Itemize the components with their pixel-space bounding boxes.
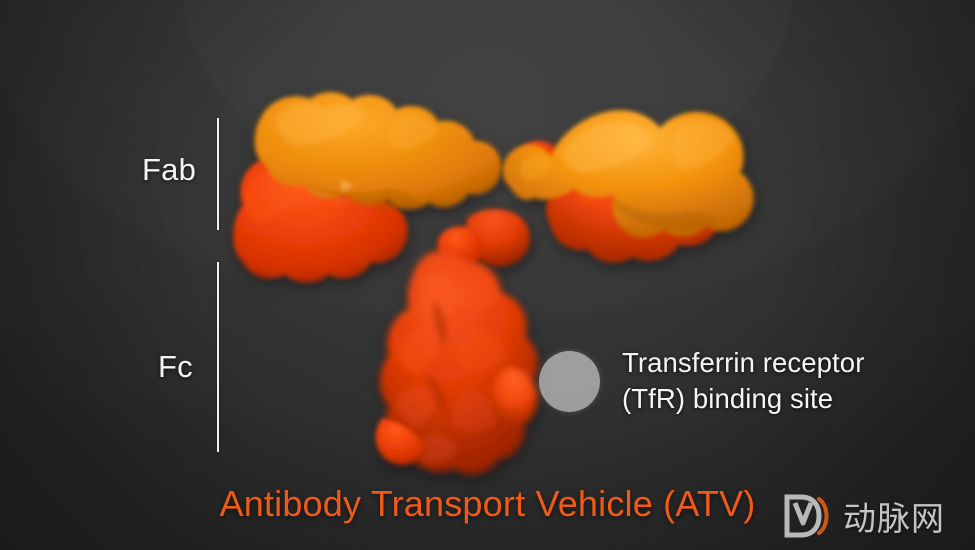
fab-bracket — [217, 118, 219, 230]
watermark-logo-icon — [783, 491, 839, 541]
tfr-label-line1: Transferrin receptor — [622, 345, 864, 381]
tfr-label-line2: (TfR) binding site — [622, 381, 864, 417]
tfr-binding-site-marker — [539, 351, 600, 412]
watermark: 动脉网 — [783, 484, 969, 548]
fc-bracket — [217, 262, 219, 452]
fc-region-label: Fc — [158, 349, 193, 385]
watermark-text: 动脉网 — [843, 492, 945, 540]
figure-canvas: Fab Fc Transferrin receptor (TfR) bindin… — [0, 0, 975, 550]
fab-region-label: Fab — [142, 152, 196, 188]
tfr-binding-site-label: Transferrin receptor (TfR) binding site — [622, 345, 864, 417]
background-vignette — [0, 0, 975, 550]
